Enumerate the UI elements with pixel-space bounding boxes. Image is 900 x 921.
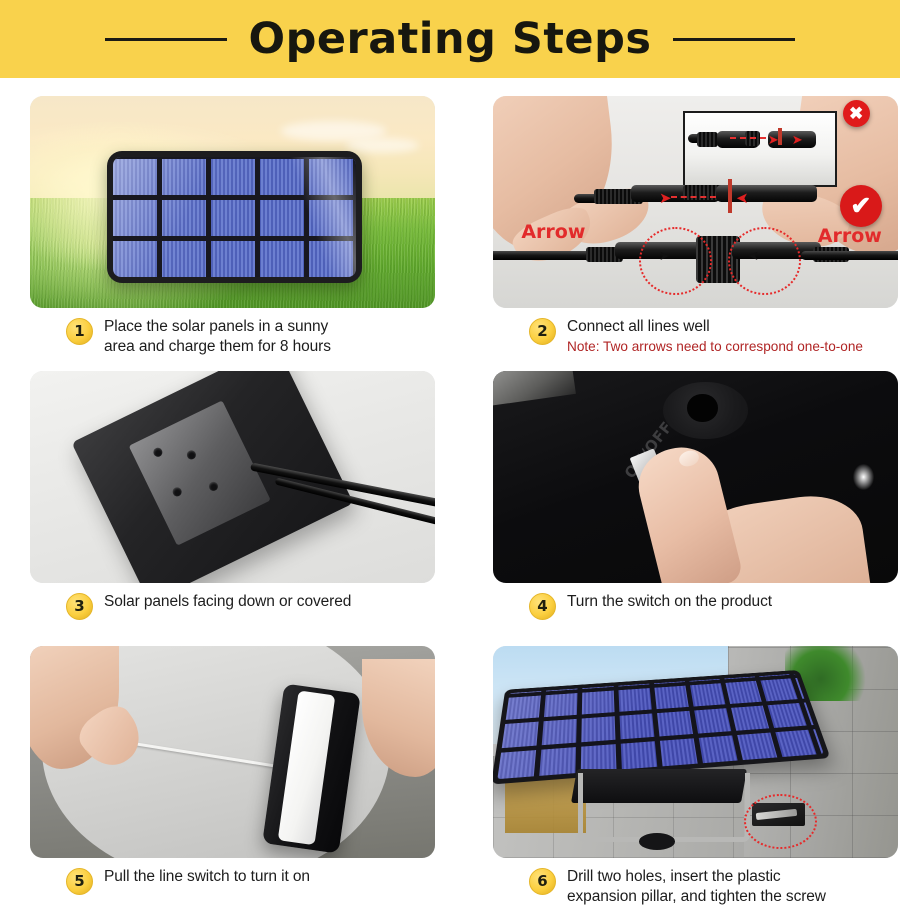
red-band-marker xyxy=(778,128,782,145)
step-item-1: 1 Place the solar panels in a sunny area… xyxy=(30,96,465,371)
step-item-4: ON/OFF 4 Turn the switch on the product xyxy=(465,371,900,646)
step-caption-text-1: Place the solar panels in a sunny area a… xyxy=(104,317,331,357)
arrow-marking-left: ➤ xyxy=(659,249,670,262)
left-arrow-icon: ➤ xyxy=(736,191,749,206)
alignment-dash-line xyxy=(671,196,716,198)
step-caption-text-4: Turn the switch on the product xyxy=(567,592,772,612)
step-caption-text-5: Pull the line switch to turn it on xyxy=(104,867,310,887)
arrow-label-left: Arrow xyxy=(521,221,585,243)
onoff-switch-finger-photo: ON/OFF xyxy=(493,371,898,583)
step-badge-3: 3 xyxy=(66,593,93,620)
right-arrow-icon: ➤ xyxy=(659,191,672,206)
cable-strain-relief xyxy=(697,132,718,147)
right-arrow-icon: ➤ xyxy=(792,133,803,146)
step-badge-4: 4 xyxy=(529,593,556,620)
step-caption-text-3: Solar panels facing down or covered xyxy=(104,592,351,612)
solar-panel-on-grass-photo xyxy=(30,96,435,308)
page-title: Operating Steps xyxy=(249,18,652,61)
connector-grip xyxy=(683,185,719,200)
cable-segment xyxy=(801,251,898,260)
step-caption-5: 5 Pull the line switch to turn it on xyxy=(30,858,465,921)
mounting-plate xyxy=(129,400,271,545)
mount-hole xyxy=(171,486,183,498)
sensor-lens xyxy=(687,394,717,422)
step-item-6: 6 Drill two holes, insert the plastic ex… xyxy=(465,646,900,921)
pull-cord-lamp-photo xyxy=(30,646,435,858)
step-caption-text-6: Drill two holes, insert the plastic expa… xyxy=(567,867,826,907)
mount-hole xyxy=(185,449,197,461)
step-caption-4: 4 Turn the switch on the product xyxy=(465,583,900,646)
page-header: Operating Steps xyxy=(0,0,900,78)
arrow-marking-right: ➤ xyxy=(748,249,759,262)
step-note-2: Note: Two arrows need to correspond one-… xyxy=(567,338,863,356)
highlight-circle-right xyxy=(728,227,801,295)
header-rule-right xyxy=(673,38,795,41)
steps-grid: 1 Place the solar panels in a sunny area… xyxy=(0,78,900,921)
arrow-label-right: Arrow xyxy=(818,225,882,247)
red-band-marker xyxy=(728,179,732,213)
step-caption-3: 3 Solar panels facing down or covered xyxy=(30,583,465,646)
mounting-bracket xyxy=(578,773,750,842)
mount-hole xyxy=(151,446,163,458)
step-caption-6: 6 Drill two holes, insert the plastic ex… xyxy=(465,858,900,921)
wall-mounted-panel-photo xyxy=(493,646,898,858)
step-badge-2: 2 xyxy=(529,318,556,345)
adjust-knob xyxy=(639,833,675,850)
step-item-2: ➤ ➤ ✖ ➤ ➤ ✔ ➤ ➤ xyxy=(465,96,900,371)
led-panel-face xyxy=(278,691,336,846)
highlight-circle-left xyxy=(639,227,712,295)
step-caption-text-2: Connect all lines well xyxy=(567,317,863,337)
correct-badge-icon: ✔ xyxy=(840,185,882,227)
solar-panel-graphic xyxy=(107,151,362,282)
cable-connector-hands-photo: ➤ ➤ ✖ ➤ ➤ ✔ ➤ ➤ xyxy=(493,96,898,308)
step-badge-6: 6 xyxy=(529,868,556,895)
step-badge-1: 1 xyxy=(66,318,93,345)
header-rule-left xyxy=(105,38,227,41)
light-glare xyxy=(853,464,873,489)
step-item-3: 3 Solar panels facing down or covered xyxy=(30,371,465,646)
incorrect-alignment-inset: ➤ ➤ xyxy=(683,111,837,187)
mount-hole xyxy=(207,480,219,492)
highlight-circle-screw xyxy=(744,794,817,849)
step-badge-5: 5 xyxy=(66,868,93,895)
solar-cell-surface xyxy=(113,157,356,276)
alignment-dash-line xyxy=(730,137,766,139)
incorrect-badge-icon: ✖ xyxy=(843,100,870,127)
panel-back-bracket-photo xyxy=(30,371,435,583)
step-item-5: 5 Pull the line switch to turn it on xyxy=(30,646,465,921)
step-caption-2: 2 Connect all lines well Note: Two arrow… xyxy=(465,308,900,371)
step-caption-1: 1 Place the solar panels in a sunny area… xyxy=(30,308,465,371)
left-arrow-icon: ➤ xyxy=(768,133,779,146)
